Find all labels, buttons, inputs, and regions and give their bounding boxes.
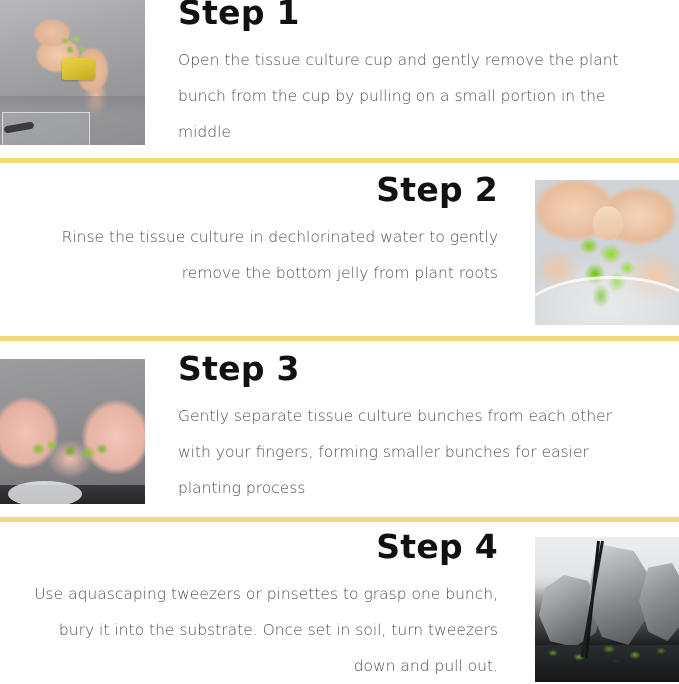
step-4-photo xyxy=(535,537,679,682)
step-4-text-block: Step 4 Use aquascaping tweezers or pinse… xyxy=(30,530,498,684)
step-2-heading: Step 2 xyxy=(30,173,498,206)
step-3-heading: Step 3 xyxy=(178,352,648,385)
planting-guide-infographic: Step 1 Open the tissue culture cup and g… xyxy=(0,0,679,684)
step-row-2: Step 2 Rinse the tissue culture in dechl… xyxy=(0,163,679,337)
step-4-heading: Step 4 xyxy=(30,530,498,563)
bowl-icon xyxy=(535,276,679,325)
tissue-culture-cup-icon xyxy=(62,58,95,80)
step-row-3: Step 3 Gently separate tissue culture bu… xyxy=(0,341,679,518)
plant-bunch-icon xyxy=(26,437,116,469)
step-row-1: Step 1 Open the tissue culture cup and g… xyxy=(0,0,679,159)
step-3-body: Gently separate tissue culture bunches f… xyxy=(178,398,648,506)
step-1-body: Open the tissue culture cup and gently r… xyxy=(178,42,648,150)
step-3-photo xyxy=(0,359,145,504)
step-1-photo xyxy=(0,0,145,145)
step-2-body: Rinse the tissue culture in dechlorinate… xyxy=(30,219,498,291)
step-2-text-block: Step 2 Rinse the tissue culture in dechl… xyxy=(30,173,498,291)
step-row-4: Step 4 Use aquascaping tweezers or pinse… xyxy=(0,522,679,684)
plant-bunch-icon xyxy=(58,34,88,60)
step-1-heading: Step 1 xyxy=(178,0,648,29)
step-3-text-block: Step 3 Gently separate tissue culture bu… xyxy=(178,352,648,506)
step-1-text-block: Step 1 Open the tissue culture cup and g… xyxy=(178,0,648,150)
plant-bunch-icon xyxy=(535,637,679,667)
step-2-photo xyxy=(535,180,679,325)
step-4-body: Use aquascaping tweezers or pinsettes to… xyxy=(30,576,498,684)
